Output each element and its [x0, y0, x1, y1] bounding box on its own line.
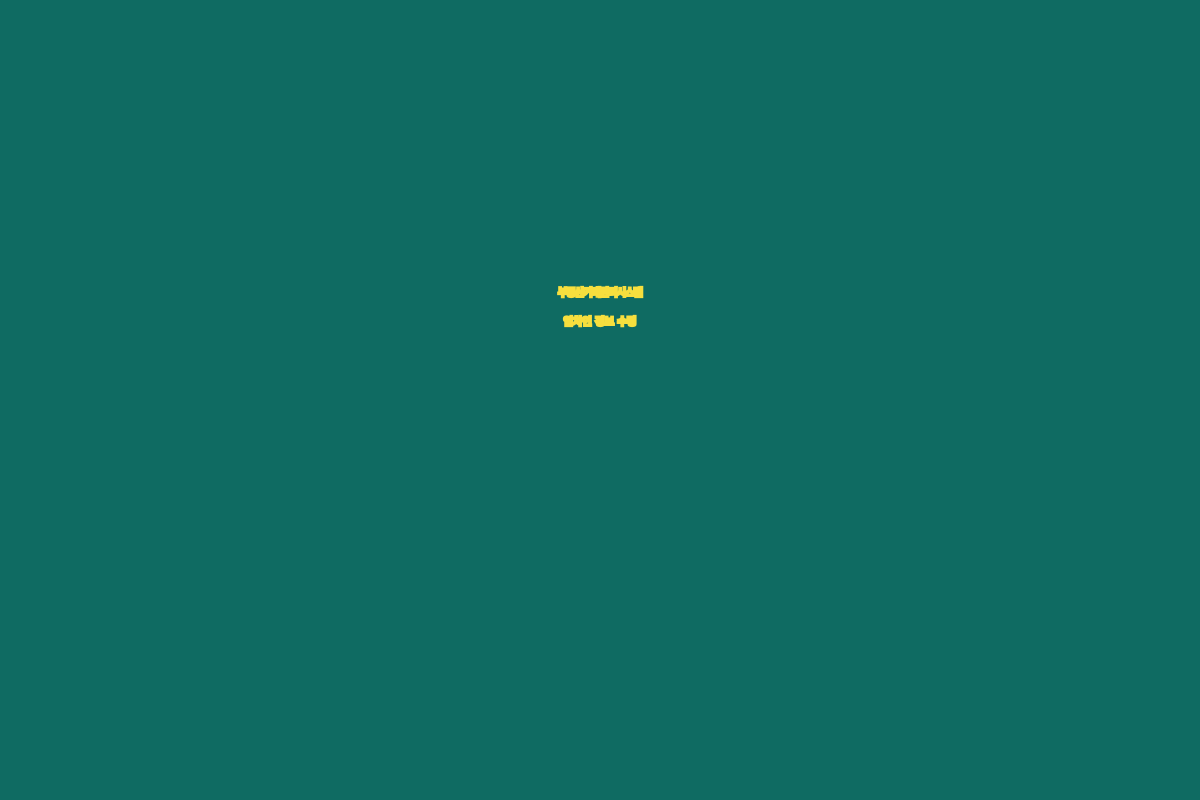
- title-block: 부동산거래관리시스템 임차인 정보 수정: [0, 288, 1200, 329]
- page-title: 임차인 정보 수정: [0, 317, 1200, 328]
- system-title: 부동산거래관리시스템: [0, 288, 1200, 299]
- banner-canvas: 부동산거래관리시스템 임차인 정보 수정: [0, 0, 1200, 800]
